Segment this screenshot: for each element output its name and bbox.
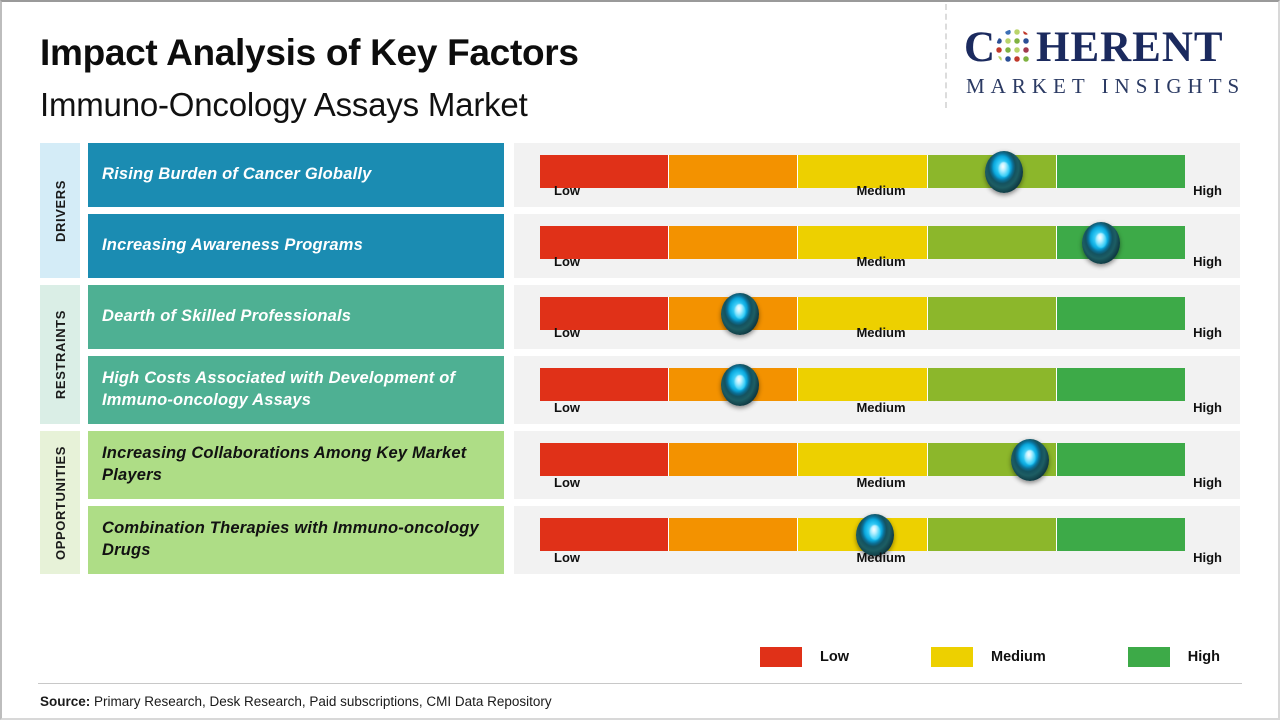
- source-note: Source: Primary Research, Desk Research,…: [40, 694, 552, 709]
- factor-row: Increasing Collaborations Among Key Mark…: [88, 431, 1240, 499]
- scale-label-low: Low: [554, 183, 580, 198]
- group-label-text: DRIVERS: [53, 180, 68, 242]
- group-drivers: DRIVERSRising Burden of Cancer GloballyL…: [40, 143, 1240, 278]
- group-label-text: RESTRAINTS: [53, 310, 68, 399]
- group-rows: Dearth of Skilled ProfessionalsLowMedium…: [88, 285, 1240, 424]
- scale-label-high: High: [1193, 183, 1222, 198]
- factor-row: Rising Burden of Cancer GloballyLowMediu…: [88, 143, 1240, 207]
- scale-label-low: Low: [554, 325, 580, 340]
- scale-label-medium: Medium: [856, 183, 905, 198]
- impact-gauge: LowMediumHigh: [514, 356, 1240, 424]
- scale-labels: LowMediumHigh: [540, 325, 1222, 342]
- gauge-segment-5: [1057, 368, 1185, 401]
- gauge-segment-1: [540, 443, 669, 476]
- legend-swatch-low: [760, 647, 802, 667]
- gauge-segment-2: [669, 368, 798, 401]
- legend-item-low: Low: [760, 647, 849, 667]
- group-label-opportunities: OPPORTUNITIES: [40, 431, 80, 574]
- impact-gauge: LowMediumHigh: [514, 431, 1240, 499]
- scale-labels: LowMediumHigh: [540, 254, 1222, 271]
- gauge-segment-4: [928, 368, 1057, 401]
- globe-icon: [996, 29, 1034, 67]
- factor-row: Dearth of Skilled ProfessionalsLowMedium…: [88, 285, 1240, 349]
- source-label: Source:: [40, 694, 90, 709]
- header: Impact Analysis of Key Factors Immuno-On…: [2, 2, 1278, 134]
- scale-label-medium: Medium: [856, 400, 905, 415]
- legend-label: High: [1188, 649, 1220, 665]
- legend: LowMediumHigh: [760, 647, 1220, 667]
- gauge-segment-3: [798, 518, 927, 551]
- scale-label-high: High: [1193, 475, 1222, 490]
- legend-swatch-medium: [931, 647, 973, 667]
- scale-label-medium: Medium: [856, 550, 905, 565]
- legend-item-medium: Medium: [931, 647, 1046, 667]
- scale-labels: LowMediumHigh: [540, 183, 1222, 200]
- impact-gauge: LowMediumHigh: [514, 506, 1240, 574]
- scale-label-high: High: [1193, 325, 1222, 340]
- scale-labels: LowMediumHigh: [540, 400, 1222, 417]
- scale-label-low: Low: [554, 550, 580, 565]
- logo-tagline: MARKET INSIGHTS: [966, 74, 1245, 99]
- scale-labels: LowMediumHigh: [540, 475, 1222, 492]
- scale-label-high: High: [1193, 400, 1222, 415]
- scale-label-medium: Medium: [856, 475, 905, 490]
- factor-label: Increasing Awareness Programs: [88, 214, 504, 278]
- factor-label: Increasing Collaborations Among Key Mark…: [88, 431, 504, 499]
- factor-label: Dearth of Skilled Professionals: [88, 285, 504, 349]
- legend-label: Low: [820, 649, 849, 665]
- gauge-segment-4: [928, 443, 1057, 476]
- group-opportunities: OPPORTUNITIESIncreasing Collaborations A…: [40, 431, 1240, 574]
- scale-label-low: Low: [554, 400, 580, 415]
- group-label-restraints: RESTRAINTS: [40, 285, 80, 424]
- gauge-segment-2: [669, 518, 798, 551]
- scale-labels: LowMediumHigh: [540, 550, 1222, 567]
- impact-gauge: LowMediumHigh: [514, 285, 1240, 349]
- group-rows: Increasing Collaborations Among Key Mark…: [88, 431, 1240, 574]
- source-text: Primary Research, Desk Research, Paid su…: [90, 694, 551, 709]
- page-title: Impact Analysis of Key Factors: [40, 32, 579, 74]
- group-restraints: RESTRAINTSDearth of Skilled Professional…: [40, 285, 1240, 424]
- impact-gauge: LowMediumHigh: [514, 143, 1240, 207]
- legend-swatch-high: [1128, 647, 1170, 667]
- gauge-segment-1: [540, 368, 669, 401]
- gauge-bar: [540, 368, 1185, 401]
- gauge-segment-1: [540, 518, 669, 551]
- gauge-segment-5: [1057, 518, 1185, 551]
- scale-label-low: Low: [554, 475, 580, 490]
- gauge-segment-3: [798, 443, 927, 476]
- group-rows: Rising Burden of Cancer GloballyLowMediu…: [88, 143, 1240, 278]
- gauge-bar: [540, 518, 1185, 551]
- legend-label: Medium: [991, 649, 1046, 665]
- factor-row: High Costs Associated with Development o…: [88, 356, 1240, 424]
- footer-divider: [38, 683, 1242, 684]
- gauge-segment-4: [928, 518, 1057, 551]
- scale-label-high: High: [1193, 550, 1222, 565]
- factor-row: Combination Therapies with Immuno-oncolo…: [88, 506, 1240, 574]
- scale-label-medium: Medium: [856, 325, 905, 340]
- group-label-text: OPPORTUNITIES: [53, 446, 68, 560]
- legend-item-high: High: [1128, 647, 1220, 667]
- logo: C HERENT MARKET INSIGHTS: [964, 24, 1264, 104]
- gauge-segment-5: [1057, 443, 1185, 476]
- gauge-segment-2: [669, 443, 798, 476]
- impact-gauge: LowMediumHigh: [514, 214, 1240, 278]
- scale-label-low: Low: [554, 254, 580, 269]
- impact-matrix: DRIVERSRising Burden of Cancer GloballyL…: [40, 143, 1240, 581]
- logo-wordmark: C HERENT: [964, 24, 1264, 72]
- logo-letter-c: C: [964, 24, 996, 72]
- scale-label-high: High: [1193, 254, 1222, 269]
- factor-label: High Costs Associated with Development o…: [88, 356, 504, 424]
- header-divider: [945, 4, 947, 108]
- factor-row: Increasing Awareness ProgramsLowMediumHi…: [88, 214, 1240, 278]
- logo-letters-rest: HERENT: [1036, 24, 1224, 72]
- scale-label-medium: Medium: [856, 254, 905, 269]
- page-subtitle: Immuno-Oncology Assays Market: [40, 86, 528, 124]
- gauge-segment-3: [798, 368, 927, 401]
- group-label-drivers: DRIVERS: [40, 143, 80, 278]
- gauge-bar: [540, 443, 1185, 476]
- factor-label: Combination Therapies with Immuno-oncolo…: [88, 506, 504, 574]
- slide-root: Impact Analysis of Key Factors Immuno-On…: [0, 0, 1280, 720]
- factor-label: Rising Burden of Cancer Globally: [88, 143, 504, 207]
